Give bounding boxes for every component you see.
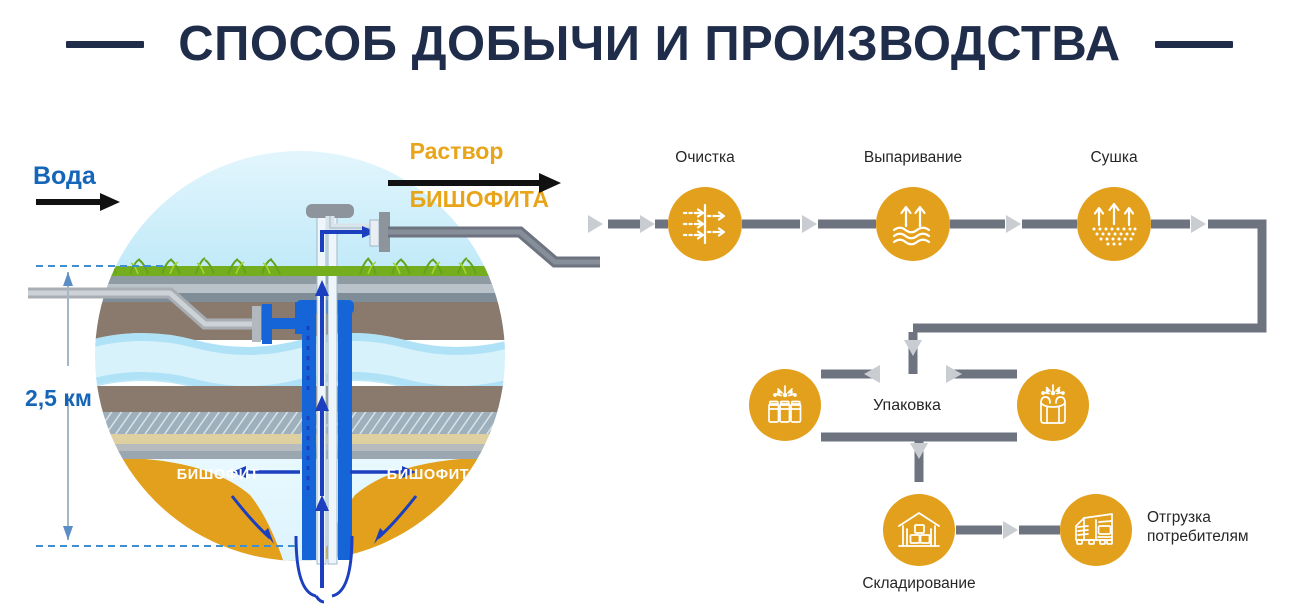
process-circle-jars[interactable]	[749, 369, 821, 441]
drying-icon	[1089, 201, 1139, 247]
process-circle-ochistka[interactable]	[668, 187, 742, 261]
jars-icon	[762, 382, 808, 428]
process-label-ochistka: Очистка	[675, 148, 734, 167]
bigbag-icon	[1030, 382, 1076, 428]
process-circle-vyparivanie[interactable]	[876, 187, 950, 261]
filter-icon	[681, 202, 729, 246]
process-label-otgruzka: Отгрузкапотребителям	[1147, 508, 1249, 546]
packaging-label: Упаковка	[873, 396, 941, 415]
process-circle-sushka[interactable]	[1077, 187, 1151, 261]
process-label-sushka: Сушка	[1090, 148, 1137, 167]
process-circle-bigbag[interactable]	[1017, 369, 1089, 441]
infographic-root: СПОСОБ ДОБЫЧИ И ПРОИЗВОДСТВА	[0, 0, 1299, 612]
truck-icon	[1072, 510, 1120, 550]
warehouse-icon	[896, 509, 942, 551]
process-label-vyparivanie: Выпаривание	[864, 148, 962, 167]
process-label-sklad: Складирование	[862, 574, 975, 593]
process-circle-warehouse[interactable]	[883, 494, 955, 566]
process-circle-truck[interactable]	[1060, 494, 1132, 566]
evaporation-icon	[889, 202, 937, 246]
